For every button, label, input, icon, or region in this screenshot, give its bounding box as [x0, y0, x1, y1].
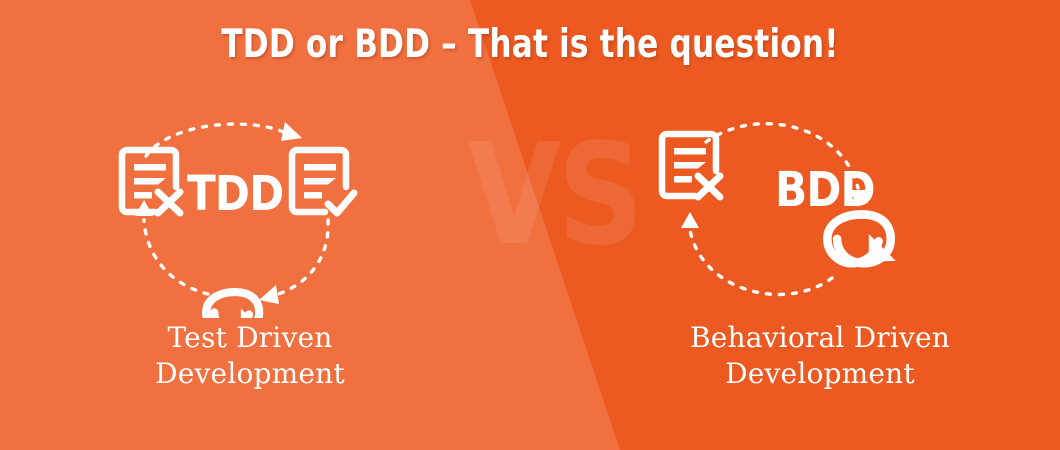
- tdd-caption-line-2: Development: [40, 356, 460, 392]
- document-x-icon: [662, 134, 720, 197]
- bdd-caption: Behavioral Driven Development: [610, 320, 1030, 392]
- bdd-caption-line-2: Development: [610, 356, 1030, 392]
- bdd-caption-line-1: Behavioral Driven: [690, 321, 950, 354]
- infographic-canvas: VS TDD or BDD – That is the question!: [0, 0, 1060, 450]
- infinity-arrow-icon: [827, 214, 895, 263]
- bdd-acronym-label: BDD: [775, 166, 875, 214]
- page-title: TDD or BDD – That is the question!: [106, 22, 954, 68]
- arrow-refactor-to-scenario: [681, 212, 832, 294]
- tdd-acronym-label: TDD: [187, 170, 283, 218]
- arrow-green-to-refactor: [259, 220, 328, 304]
- bdd-cycle-diagram: BDD: [610, 108, 1030, 318]
- tdd-panel: TDD Test Driven Development: [40, 108, 460, 408]
- document-check-icon: [292, 150, 354, 213]
- tdd-cycle-diagram: TDD: [40, 108, 460, 318]
- document-x-icon: [122, 150, 180, 213]
- bdd-panel: BDD Behavioral Driven Development: [610, 108, 1030, 408]
- tdd-caption-line-1: Test Driven: [167, 321, 332, 354]
- tdd-caption: Test Driven Development: [40, 320, 460, 392]
- infinity-arrow-icon: [206, 292, 263, 318]
